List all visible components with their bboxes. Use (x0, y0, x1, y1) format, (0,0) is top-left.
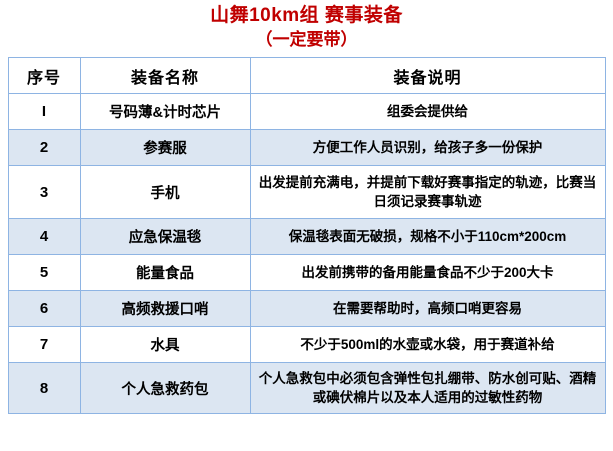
row-desc: 方便工作人员识别，给孩子多一份保护 (250, 130, 605, 166)
page-subtitle: （一定要带） (0, 28, 613, 51)
table-row: 3 手机 出发提前充满电，并提前下载好赛事指定的轨迹，比赛当日须记录赛事轨迹 (8, 166, 605, 219)
table-header: 序号 装备名称 装备说明 (8, 58, 605, 94)
table-row: I 号码薄&计时芯片 组委会提供给 (8, 94, 605, 130)
document-title-block: 山舞10km组 赛事装备 （一定要带） (0, 0, 613, 51)
row-name: 参赛服 (80, 130, 250, 166)
row-name: 号码薄&计时芯片 (80, 94, 250, 130)
row-no: 6 (8, 291, 80, 327)
row-name: 应急保温毯 (80, 219, 250, 255)
row-desc: 组委会提供给 (250, 94, 605, 130)
row-no: 3 (8, 166, 80, 219)
row-name: 手机 (80, 166, 250, 219)
table-row: 2 参赛服 方便工作人员识别，给孩子多一份保护 (8, 130, 605, 166)
row-no: 4 (8, 219, 80, 255)
row-no: 5 (8, 255, 80, 291)
row-no: I (8, 94, 80, 130)
row-desc: 保温毯表面无破损，规格不小于110cm*200cm (250, 219, 605, 255)
header-cell-no: 序号 (8, 58, 80, 94)
row-desc: 在需要帮助时，高频口哨更容易 (250, 291, 605, 327)
row-desc: 出发前携带的备用能量食品不少于200大卡 (250, 255, 605, 291)
row-name: 水具 (80, 327, 250, 363)
table-row: 4 应急保温毯 保温毯表面无破损，规格不小于110cm*200cm (8, 219, 605, 255)
row-no: 2 (8, 130, 80, 166)
row-no: 7 (8, 327, 80, 363)
table-row: 6 高频救援口哨 在需要帮助时，高频口哨更容易 (8, 291, 605, 327)
row-desc: 不少于500ml的水壶或水袋，用于赛道补给 (250, 327, 605, 363)
row-desc: 个人急救包中必须包含弹性包扎绷带、防水创可贴、酒精或碘伏棉片以及本人适用的过敏性… (250, 363, 605, 414)
table-row: 5 能量食品 出发前携带的备用能量食品不少于200大卡 (8, 255, 605, 291)
row-name: 高频救援口哨 (80, 291, 250, 327)
table-header-row: 序号 装备名称 装备说明 (8, 58, 605, 94)
row-name: 能量食品 (80, 255, 250, 291)
equipment-table: 序号 装备名称 装备说明 I 号码薄&计时芯片 组委会提供给 2 参赛服 方便工… (8, 57, 606, 414)
page-title: 山舞10km组 赛事装备 (0, 4, 613, 28)
row-no: 8 (8, 363, 80, 414)
row-desc: 出发提前充满电，并提前下载好赛事指定的轨迹，比赛当日须记录赛事轨迹 (250, 166, 605, 219)
table-row: 7 水具 不少于500ml的水壶或水袋，用于赛道补给 (8, 327, 605, 363)
document-page: 山舞10km组 赛事装备 （一定要带） 序号 装备名称 装备说明 I 号码薄&计… (0, 0, 613, 451)
table-row: 8 个人急救药包 个人急救包中必须包含弹性包扎绷带、防水创可贴、酒精或碘伏棉片以… (8, 363, 605, 414)
header-cell-name: 装备名称 (80, 58, 250, 94)
table-body: I 号码薄&计时芯片 组委会提供给 2 参赛服 方便工作人员识别，给孩子多一份保… (8, 94, 605, 414)
row-name: 个人急救药包 (80, 363, 250, 414)
header-cell-desc: 装备说明 (250, 58, 605, 94)
